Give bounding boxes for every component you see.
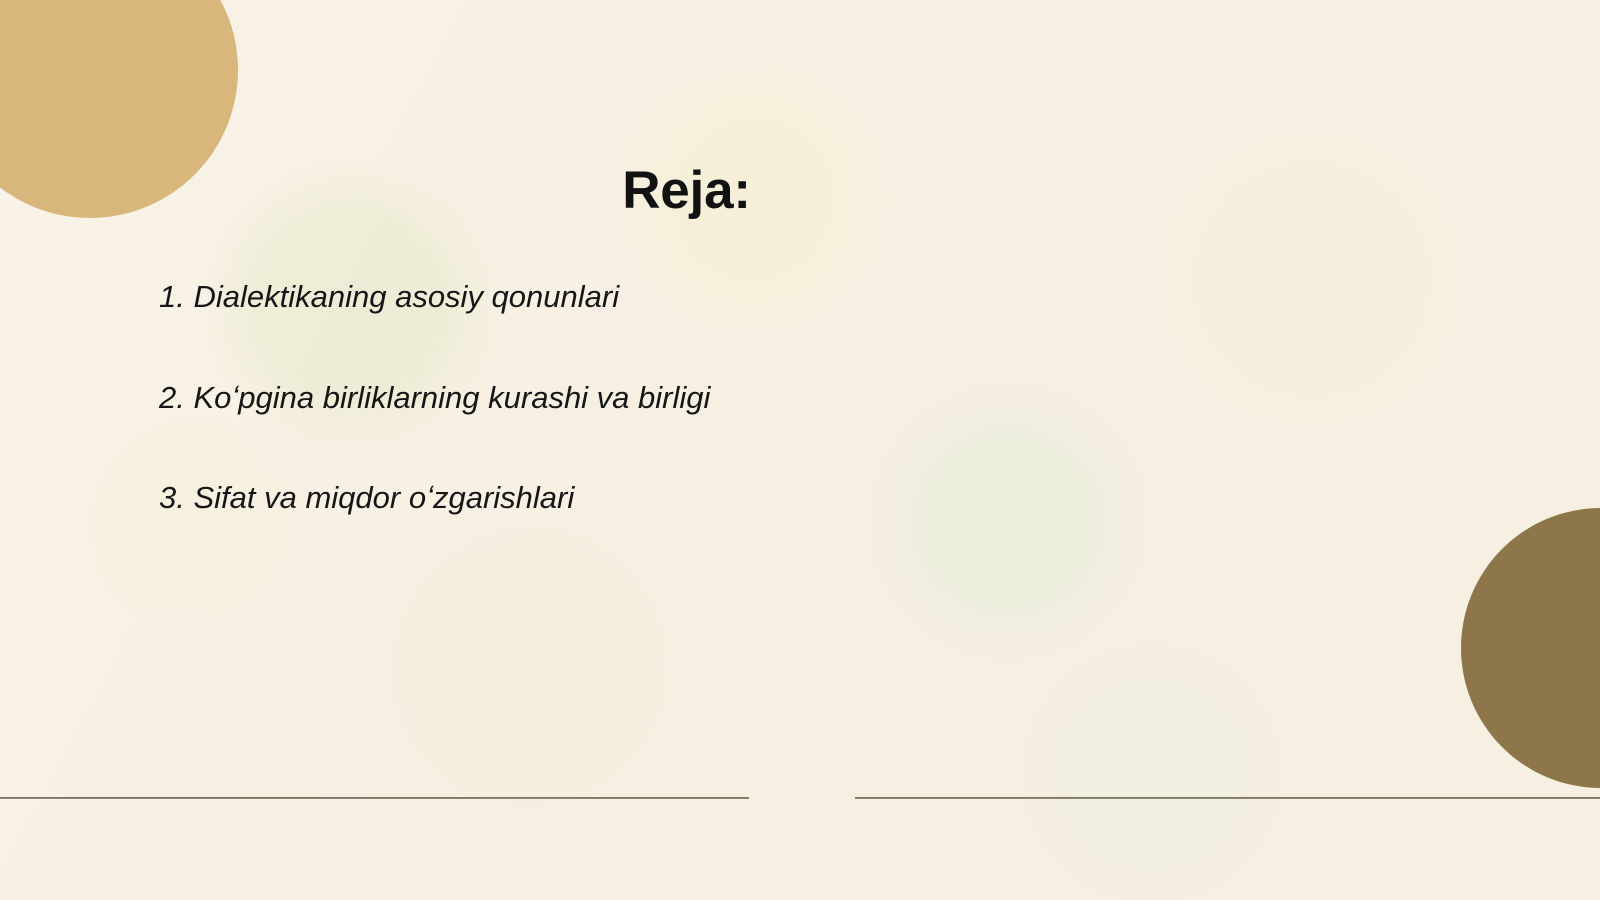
slide-title: Reja:	[0, 162, 1373, 220]
footer-rule-right	[855, 797, 1600, 799]
agenda-item-1: 1. Dialektikaning asosiy qonunlari	[159, 279, 1259, 315]
agenda-item-2: 2. Koʻpgina birliklarning kurashi va bir…	[159, 380, 1259, 416]
agenda-list: 1. Dialektikaning asosiy qonunlari 2. Ko…	[159, 279, 1259, 516]
decorative-circle-bottom-right	[1461, 508, 1600, 788]
agenda-item-3: 3. Sifat va miqdor oʻzgarishlari	[159, 480, 1259, 516]
footer-rule-left	[0, 797, 749, 799]
presentation-slide: Reja: 1. Dialektikaning asosiy qonunlari…	[0, 0, 1600, 900]
